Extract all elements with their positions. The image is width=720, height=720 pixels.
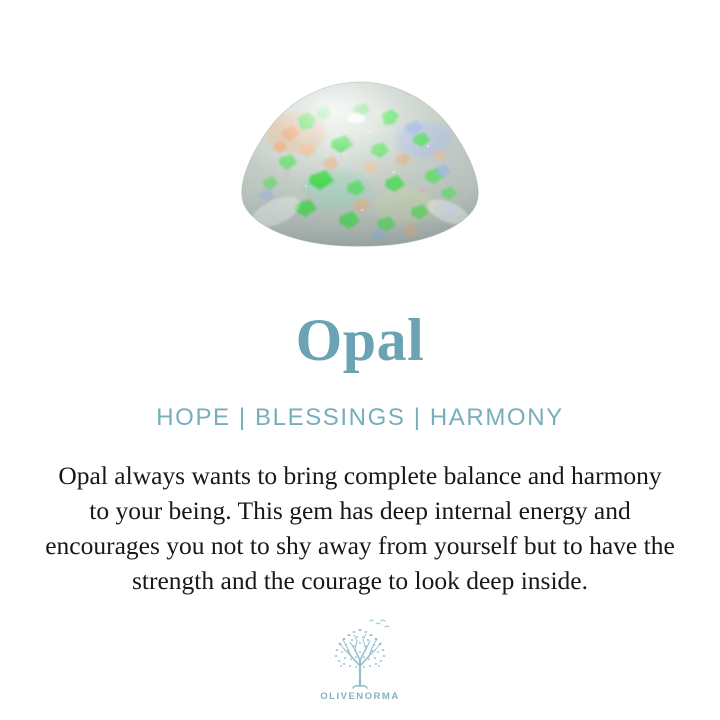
- tree-of-life-icon: [321, 616, 399, 690]
- description-line-1: Opal always wants to bring complete bala…: [26, 458, 694, 493]
- brand-footer: OLIVENORMA: [320, 616, 399, 720]
- page-title: Opal: [296, 262, 425, 370]
- description-line-3: encourages you not to shy away from your…: [26, 528, 694, 563]
- description-line-4: strength and the courage to look deep in…: [26, 563, 694, 598]
- hero-image-container: [0, 0, 720, 262]
- description-text: Opal always wants to bring complete bala…: [26, 432, 694, 598]
- keyword-line: HOPE | BLESSINGS | HARMONY: [156, 370, 563, 432]
- gemstone-info-card: Opal HOPE | BLESSINGS | HARMONY Opal alw…: [0, 0, 720, 720]
- description-line-2: to your being. This gem has deep interna…: [26, 493, 694, 528]
- brand-name: OLIVENORMA: [320, 691, 399, 702]
- opal-gemstone-image: [236, 80, 484, 248]
